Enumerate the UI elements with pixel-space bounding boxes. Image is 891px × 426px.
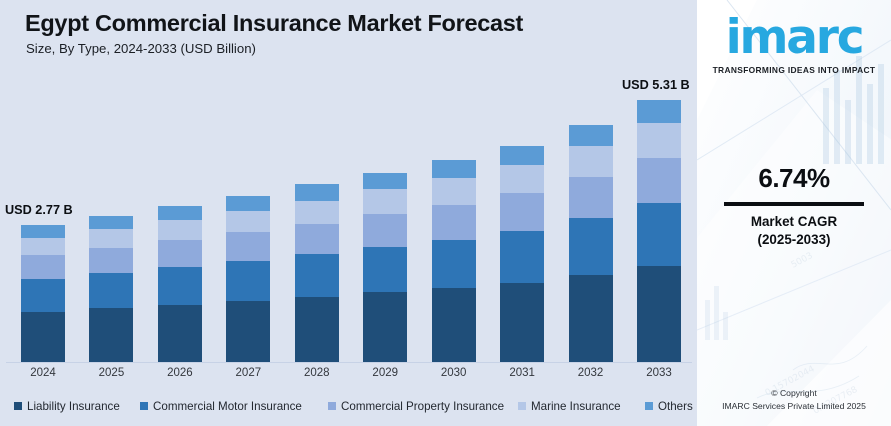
bar-segment — [158, 240, 202, 267]
logo-wordmark: imarc — [697, 14, 891, 61]
x-axis-label: 2029 — [355, 367, 415, 379]
legend-item[interactable]: Commercial Property Insurance — [328, 400, 504, 413]
cagr-label: Market CAGR — [697, 213, 891, 232]
bar-segment — [158, 305, 202, 362]
x-axis-label: 2027 — [218, 367, 278, 379]
bar-segment — [500, 146, 544, 165]
bar-segment — [363, 173, 407, 190]
logo-tagline: TRANSFORMING IDEAS INTO IMPACT — [697, 65, 891, 75]
bar-stack[interactable] — [89, 216, 133, 362]
bar-segment — [363, 189, 407, 214]
bar-segment — [432, 240, 476, 288]
x-axis-label: 2026 — [150, 367, 210, 379]
bar-segment — [500, 193, 544, 230]
bar-segment — [295, 297, 339, 362]
bar-segment — [158, 220, 202, 240]
bar-segment — [432, 205, 476, 240]
bar-segment — [226, 261, 270, 301]
bar-segment — [21, 255, 65, 279]
cagr-period: (2025-2033) — [697, 232, 891, 247]
plot-area: 2024202520262027202820292030203120322033… — [0, 0, 697, 426]
copyright-notice: © Copyright IMARC Services Private Limit… — [697, 387, 891, 413]
legend-label: Commercial Motor Insurance — [153, 400, 302, 413]
chart-legend: Liability InsuranceCommercial Motor Insu… — [0, 396, 697, 416]
bar-segment — [226, 301, 270, 362]
bar-segment — [637, 266, 681, 362]
cagr-block: 6.74% Market CAGR (2025-2033) — [697, 163, 891, 247]
bar-segment — [500, 165, 544, 193]
legend-label: Marine Insurance — [531, 400, 621, 413]
bar-stack[interactable] — [21, 225, 65, 362]
bar-segment — [21, 279, 65, 312]
bar-segment — [89, 308, 133, 362]
bar-stack[interactable] — [569, 125, 613, 362]
callout-first-value: USD 2.77 B — [5, 203, 73, 217]
legend-swatch-icon — [518, 402, 526, 410]
bar-segment — [295, 201, 339, 224]
legend-swatch-icon — [14, 402, 22, 410]
legend-item[interactable]: Liability Insurance — [14, 400, 120, 413]
copyright-line-1: © Copyright — [697, 387, 891, 400]
bar-stack[interactable] — [637, 100, 681, 362]
bar-segment — [363, 247, 407, 292]
bar-segment — [432, 160, 476, 178]
legend-swatch-icon — [328, 402, 336, 410]
x-axis-label: 2031 — [492, 367, 552, 379]
bar-segment — [295, 184, 339, 200]
bar-segment — [21, 238, 65, 256]
bar-segment — [569, 146, 613, 177]
bar-segment — [89, 229, 133, 248]
bar-segment — [363, 292, 407, 362]
bar-segment — [21, 312, 65, 362]
cagr-divider — [724, 202, 864, 206]
bar-segment — [500, 283, 544, 362]
x-axis-label: 2032 — [561, 367, 621, 379]
bar-segment — [226, 211, 270, 233]
bar-segment — [226, 232, 270, 261]
x-axis-label: 2024 — [13, 367, 73, 379]
bar-segment — [158, 206, 202, 220]
bar-segment — [432, 288, 476, 362]
bar-segment — [89, 273, 133, 308]
chart-page: Egypt Commercial Insurance Market Foreca… — [0, 0, 891, 426]
bar-segment — [500, 231, 544, 283]
bar-segment — [432, 178, 476, 205]
bar-segment — [295, 224, 339, 255]
bar-segment — [569, 218, 613, 275]
brand-panel: 0.15702044 0.0207768 5003 imarc TRANSFOR… — [697, 0, 891, 426]
legend-label: Liability Insurance — [27, 400, 120, 413]
bar-segment — [637, 203, 681, 266]
x-axis-label: 2030 — [424, 367, 484, 379]
cagr-value: 6.74% — [697, 163, 891, 194]
bar-stack[interactable] — [295, 184, 339, 362]
bar-segment — [569, 275, 613, 362]
bar-segment — [295, 254, 339, 296]
bar-stack[interactable] — [500, 146, 544, 362]
bar-segment — [569, 177, 613, 218]
bar-segment — [637, 100, 681, 123]
x-axis-label: 2033 — [629, 367, 689, 379]
legend-label: Others — [658, 400, 693, 413]
legend-swatch-icon — [140, 402, 148, 410]
chart-panel: Egypt Commercial Insurance Market Foreca… — [0, 0, 697, 426]
legend-label: Commercial Property Insurance — [341, 400, 504, 413]
bar-segment — [363, 214, 407, 247]
legend-item[interactable]: Commercial Motor Insurance — [140, 400, 302, 413]
bar-segment — [158, 267, 202, 304]
bar-segment — [637, 123, 681, 158]
axis-baseline — [6, 362, 692, 363]
bar-segment — [89, 216, 133, 229]
bar-segment — [226, 196, 270, 211]
copyright-line-2: IMARC Services Private Limited 2025 — [697, 400, 891, 413]
bar-stack[interactable] — [432, 160, 476, 362]
bar-stack[interactable] — [363, 173, 407, 362]
callout-last-value: USD 5.31 B — [622, 78, 690, 92]
bar-stack[interactable] — [226, 196, 270, 362]
bar-stack[interactable] — [158, 206, 202, 362]
legend-item[interactable]: Marine Insurance — [518, 400, 621, 413]
bar-segment — [569, 125, 613, 146]
imarc-logo: imarc TRANSFORMING IDEAS INTO IMPACT — [697, 14, 891, 75]
legend-swatch-icon — [645, 402, 653, 410]
x-axis-label: 2025 — [81, 367, 141, 379]
x-axis-label: 2028 — [287, 367, 347, 379]
bar-segment — [21, 225, 65, 237]
legend-item[interactable]: Others — [645, 400, 693, 413]
bar-segment — [637, 158, 681, 203]
bar-segment — [89, 248, 133, 273]
